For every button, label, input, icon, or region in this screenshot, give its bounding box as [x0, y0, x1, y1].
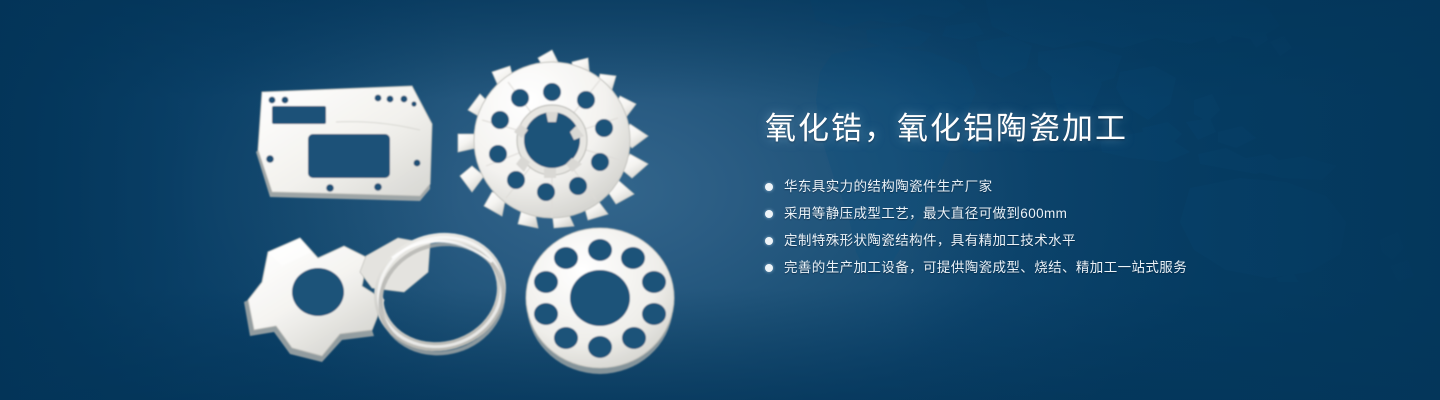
ceramic-cross-part — [244, 238, 384, 362]
bullet-dot-icon — [765, 210, 773, 218]
feature-bullet-list: 华东具实力的结构陶瓷件生产厂家 采用等静压成型工艺，最大直径可做到600mm 定… — [765, 176, 1385, 278]
feature-bullet-item: 定制特殊形状陶瓷结构件，具有精加工技术水平 — [765, 230, 1385, 251]
feature-bullet-text: 定制特殊形状陶瓷结构件，具有精加工技术水平 — [784, 230, 1076, 251]
feature-bullet-item: 采用等静压成型工艺，最大直径可做到600mm — [765, 203, 1385, 224]
banner-headline: 氧化锆，氧化铝陶瓷加工 — [765, 108, 1385, 150]
promo-banner: 氧化锆，氧化铝陶瓷加工 华东具实力的结构陶瓷件生产厂家 采用等静压成型工艺，最大… — [0, 0, 1440, 400]
banner-copy: 氧化锆，氧化铝陶瓷加工 华东具实力的结构陶瓷件生产厂家 采用等静压成型工艺，最大… — [765, 108, 1385, 284]
feature-bullet-item: 华东具实力的结构陶瓷件生产厂家 — [765, 176, 1385, 197]
bullet-dot-icon — [765, 264, 773, 272]
feature-bullet-text: 华东具实力的结构陶瓷件生产厂家 — [784, 176, 993, 197]
feature-bullet-text: 采用等静压成型工艺，最大直径可做到600mm — [784, 203, 1067, 224]
feature-bullet-text: 完善的生产加工设备，可提供陶瓷成型、烧结、精加工一站式服务 — [784, 257, 1187, 278]
ceramic-impeller-part — [458, 50, 648, 228]
ceramic-plate-part — [256, 86, 432, 201]
feature-bullet-item: 完善的生产加工设备，可提供陶瓷成型、烧结、精加工一站式服务 — [765, 257, 1385, 278]
bullet-dot-icon — [765, 237, 773, 245]
bullet-dot-icon — [765, 183, 773, 191]
ceramic-perforated-disc-part — [526, 228, 674, 374]
ceramic-ring-part — [360, 223, 516, 368]
ceramic-products-image — [0, 0, 740, 400]
